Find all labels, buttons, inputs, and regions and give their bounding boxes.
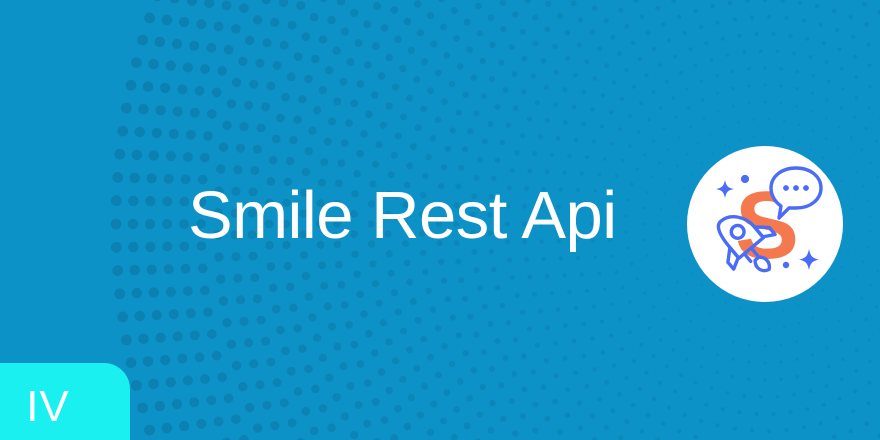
banner-canvas: Smile Rest Api S IV <box>0 0 880 440</box>
dot-icon <box>783 262 789 268</box>
page-title: Smile Rest Api <box>188 176 658 256</box>
logo-mark: S <box>687 146 843 302</box>
speech-dot <box>803 185 809 191</box>
dot-icon <box>741 175 749 183</box>
corner-badge: IV <box>0 363 130 440</box>
corner-badge-label: IV <box>0 381 96 433</box>
speech-dot <box>793 185 799 191</box>
speech-dot <box>783 185 789 191</box>
